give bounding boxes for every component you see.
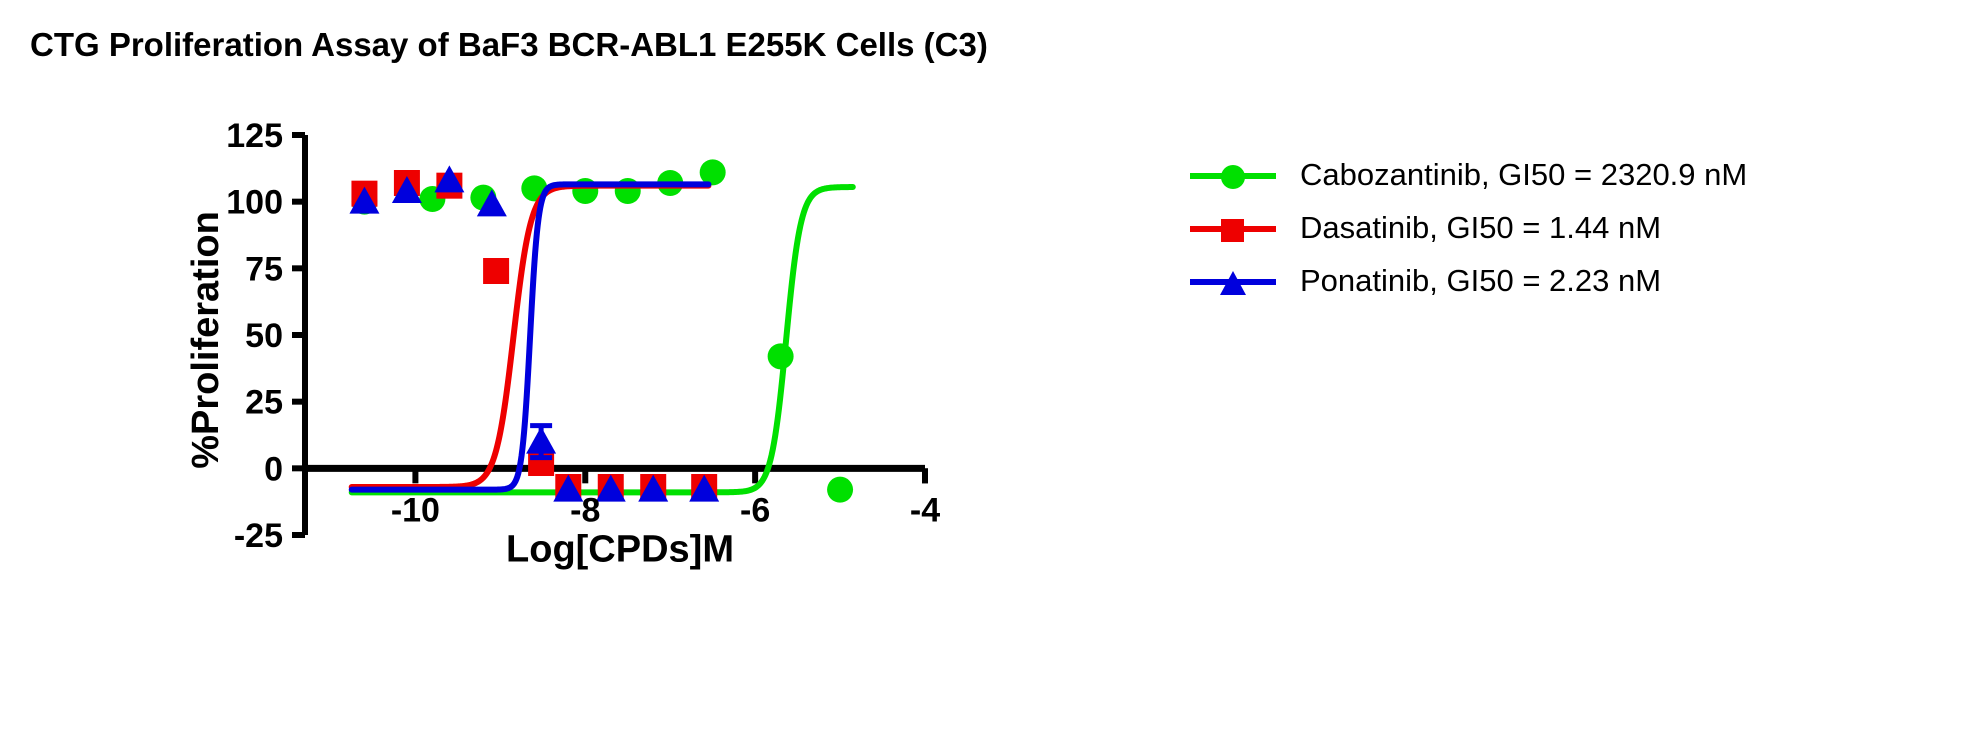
y-tick-label: 100	[226, 184, 283, 222]
legend-item-cabozantinib[interactable]: Cabozantinib, GI50 = 2320.9 nM	[1190, 148, 1950, 201]
y-tick-label: -25	[234, 517, 283, 555]
legend-marker-triangle-icon	[1220, 271, 1246, 295]
legend-marker-square-icon	[1221, 219, 1244, 242]
plot-area: 1251007550250-25-10-8-6-4 Log[CPDs]M%Pro…	[0, 0, 1970, 750]
legend-item-label: Cabozantinib, GI50 = 2320.9 nM	[1300, 157, 1747, 193]
legend-item-label: Ponatinib, GI50 = 2.23 nM	[1300, 263, 1661, 299]
x-tick-label: -8	[570, 491, 600, 529]
data-point-triangle	[526, 427, 556, 454]
legend-marker-circle-icon	[1221, 165, 1245, 189]
series-layer	[349, 159, 853, 502]
series-cabozantinib	[351, 159, 853, 502]
data-point-circle	[827, 477, 853, 503]
legend-key	[1190, 160, 1276, 190]
x-tick-label: -6	[740, 491, 770, 529]
chart-legend: Cabozantinib, GI50 = 2320.9 nMDasatinib,…	[1190, 148, 1950, 307]
y-tick-label: 25	[245, 384, 283, 422]
legend-item-dasatinib[interactable]: Dasatinib, GI50 = 1.44 nM	[1190, 201, 1950, 254]
y-tick-label: 125	[226, 117, 283, 155]
x-tick-label: -10	[391, 491, 440, 529]
legend-key	[1190, 213, 1276, 243]
y-tick-label: 75	[245, 250, 283, 288]
legend-key	[1190, 266, 1276, 296]
y-tick-label: 50	[245, 317, 283, 355]
y-tick-label: 0	[264, 450, 283, 488]
chart-figure: CTG Proliferation Assay of BaF3 BCR-ABL1…	[0, 0, 1970, 750]
y-axis-title: %Proliferation	[185, 211, 227, 469]
curve-cabozantinib	[352, 187, 853, 492]
x-tick-label: -4	[910, 491, 940, 529]
legend-item-label: Dasatinib, GI50 = 1.44 nM	[1300, 210, 1661, 246]
data-point-square	[483, 258, 509, 284]
x-axis-title: Log[CPDs]M	[506, 528, 734, 570]
data-point-circle	[768, 343, 794, 369]
legend-item-ponatinib[interactable]: Ponatinib, GI50 = 2.23 nM	[1190, 254, 1950, 307]
